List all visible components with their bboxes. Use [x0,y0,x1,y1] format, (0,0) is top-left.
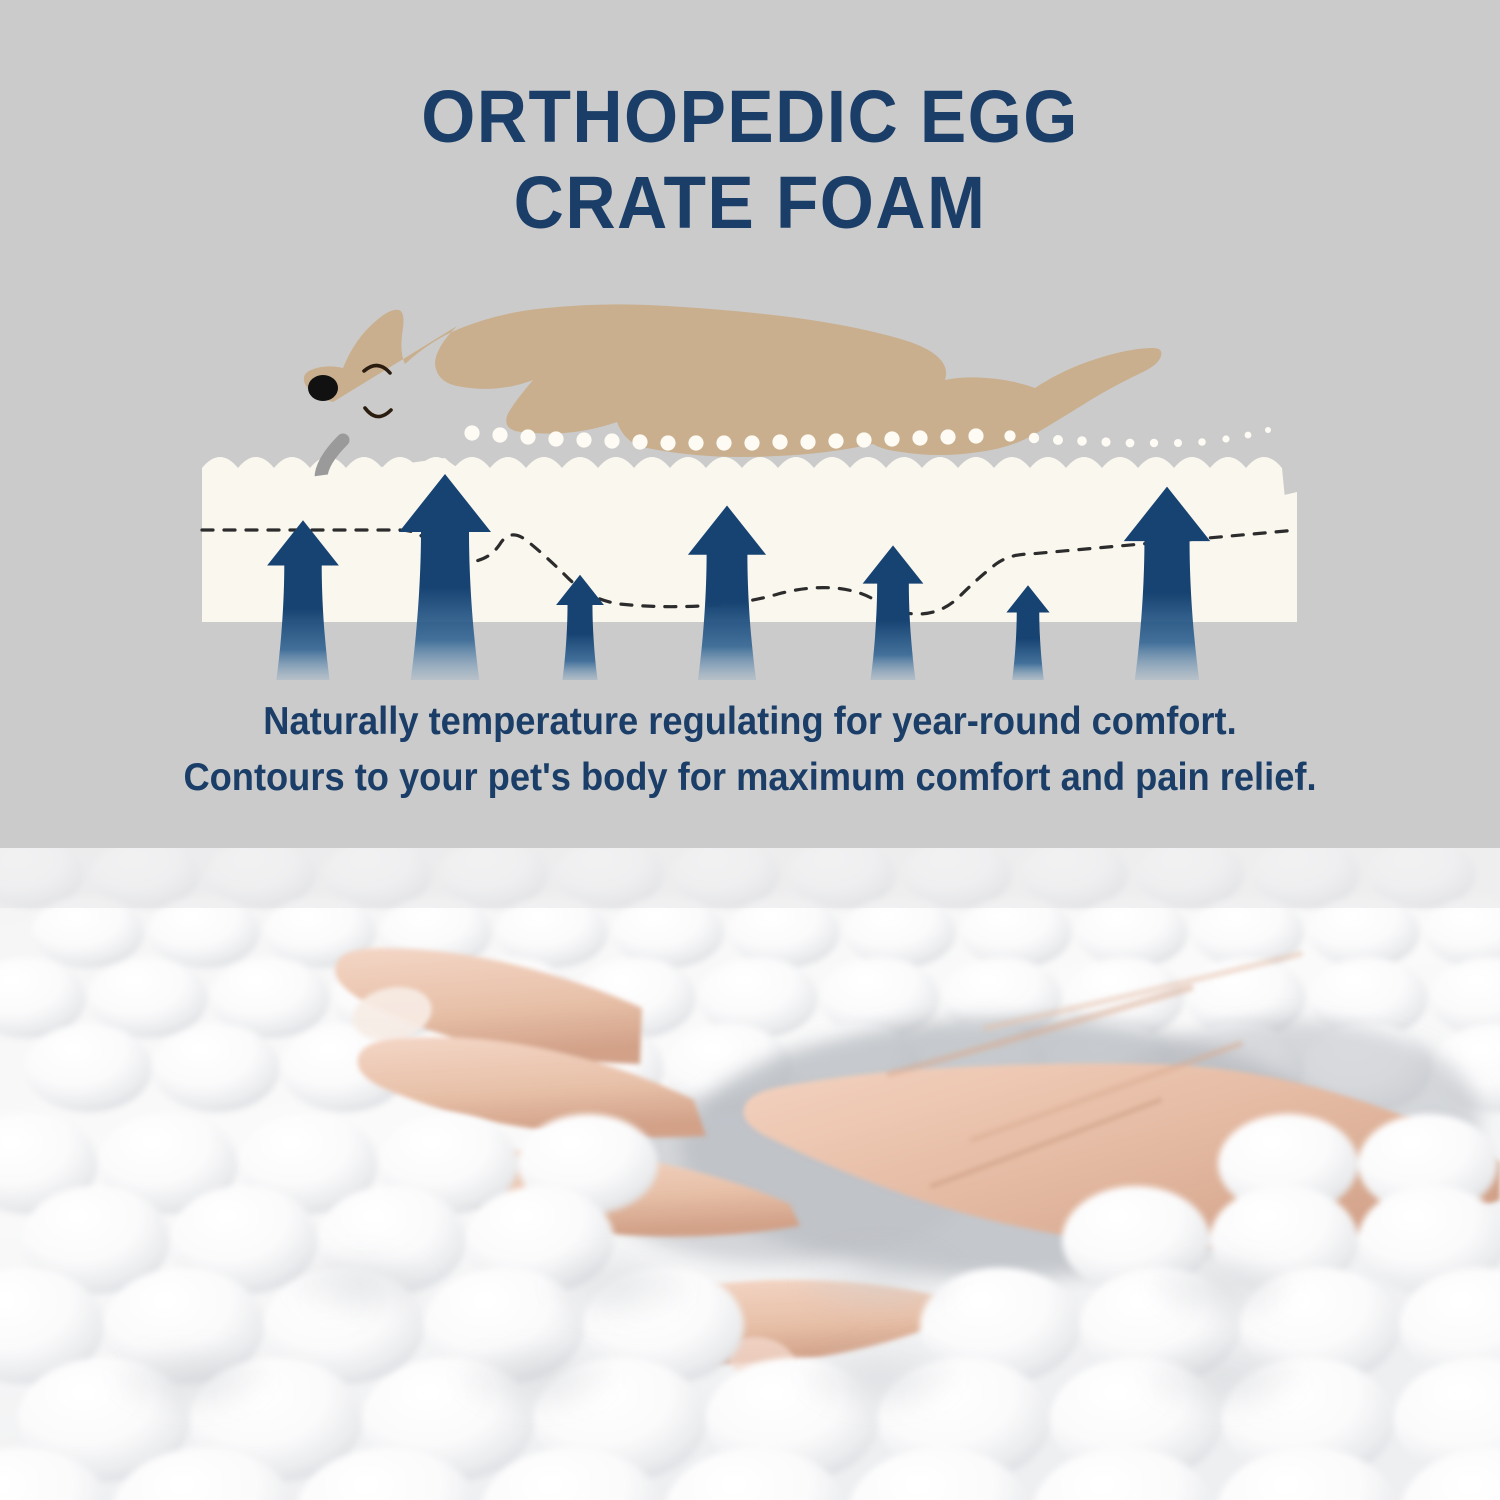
header-panel: ORTHOPEDIC EGG CRATE FOAM [0,0,1500,848]
infographic-page: ORTHOPEDIC EGG CRATE FOAM [0,0,1500,1500]
tagline-2: Contours to your pet's body for maximum … [53,750,1448,806]
foam-photo-panel [0,848,1500,1500]
title-line-1: ORTHOPEDIC EGG [45,74,1455,160]
dog-tail-dots [1004,427,1271,447]
tagline-block: Naturally temperature regulating for yea… [0,694,1500,806]
tagline-1: Naturally temperature regulating for yea… [53,694,1448,750]
dog-mouth [365,408,391,417]
page-title: ORTHOPEDIC EGG CRATE FOAM [0,74,1500,246]
title-line-2: CRATE FOAM [45,160,1455,246]
dog-on-foam-illustration [0,280,1500,680]
dog-nose [308,375,338,401]
